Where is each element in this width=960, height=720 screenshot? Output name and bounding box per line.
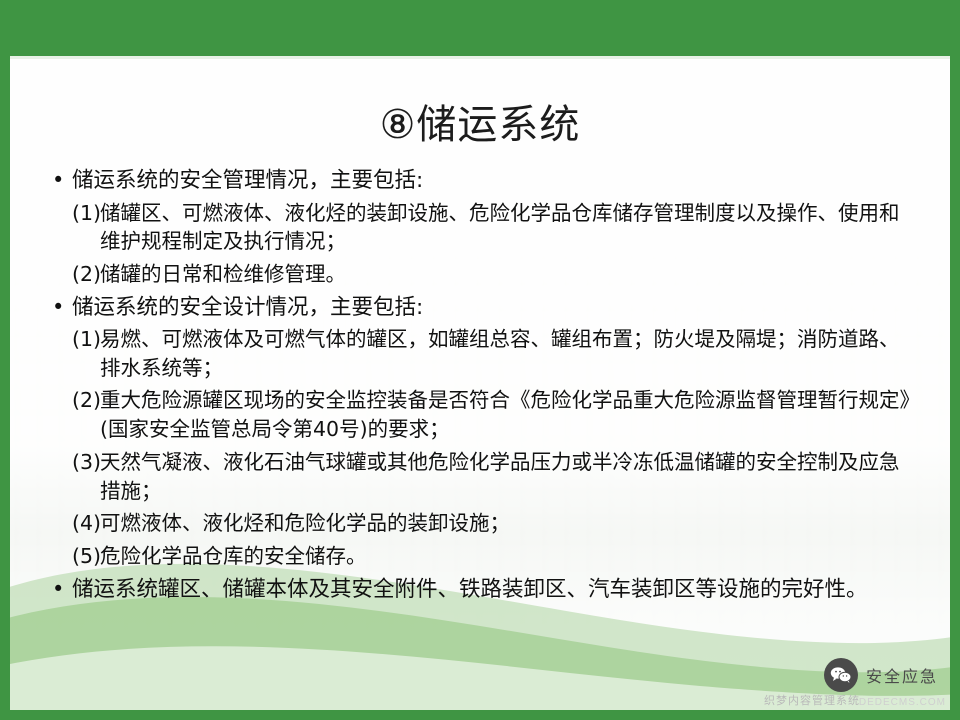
sub-bullet-number: (4)	[72, 509, 101, 538]
top-hairline	[0, 56, 960, 59]
bullet-text: 储运系统的安全设计情况，主要包括:	[72, 295, 423, 320]
sub-bullet-number: (3)	[72, 448, 101, 477]
slide-body: • 储运系统的安全管理情况，主要包括: (1) 储罐区、可燃液体、液化烃的装卸设…	[46, 166, 918, 607]
sub-bullet-text: 重大危险源罐区现场的安全监控装备是否符合《危险化学品重大危险源监督管理暂行规定》…	[100, 386, 918, 443]
sub-bullet-number: (1)	[72, 199, 101, 228]
wechat-icon	[824, 658, 858, 692]
bullet-glyph: •	[52, 293, 64, 323]
sub-bullet-text: 储罐的日常和检维修管理。	[100, 260, 918, 289]
sub-bullet-item: (2) 重大危险源罐区现场的安全监控装备是否符合《危险化学品重大危险源监督管理暂…	[72, 386, 918, 443]
bullet-item: • 储运系统罐区、储罐本体及其安全附件、铁路装卸区、汽车装卸区等设施的完好性。	[46, 575, 918, 606]
bullet-text: 储运系统罐区、储罐本体及其安全附件、铁路装卸区、汽车装卸区等设施的完好性。	[72, 577, 868, 602]
wechat-label: 安全应急	[866, 663, 938, 687]
slide-title: ⑧储运系统	[0, 92, 960, 150]
sub-bullet-number: (1)	[72, 325, 101, 354]
sub-bullet-text: 天然气凝液、液化石油气球罐或其他危险化学品压力或半冷冻低温储罐的安全控制及应急措…	[100, 448, 918, 505]
bottom-accent-edge	[0, 710, 960, 720]
sub-bullet-text: 储罐区、可燃液体、液化烃的装卸设施、危险化学品仓库储存管理制度以及操作、使用和维…	[100, 199, 918, 256]
sub-bullet-item: (3) 天然气凝液、液化石油气球罐或其他危险化学品压力或半冷冻低温储罐的安全控制…	[72, 448, 918, 505]
sub-bullet-number: (5)	[72, 542, 101, 571]
slide: ⑧储运系统 • 储运系统的安全管理情况，主要包括: (1) 储罐区、可燃液体、液…	[0, 0, 960, 720]
bullet-text: 储运系统的安全管理情况，主要包括:	[72, 168, 423, 193]
sub-bullet-item: (4) 可燃液体、液化烃和危险化学品的装卸设施；	[72, 509, 918, 538]
sub-bullet-item: (1) 易燃、可燃液体及可燃气体的罐区，如罐组总容、罐组布置；防火堤及隔堤；消防…	[72, 325, 918, 382]
sub-bullet-list: (1) 易燃、可燃液体及可燃气体的罐区，如罐组总容、罐组布置；防火堤及隔堤；消防…	[72, 325, 918, 571]
sub-bullet-number: (2)	[72, 386, 101, 415]
bullet-glyph: •	[52, 166, 64, 196]
sub-bullet-number: (2)	[72, 260, 101, 289]
sub-bullet-text: 危险化学品仓库的安全储存。	[100, 542, 918, 571]
top-accent-bar	[0, 0, 960, 56]
sub-bullet-item: (5) 危险化学品仓库的安全储存。	[72, 542, 918, 571]
wechat-badge: 安全应急	[824, 658, 938, 692]
bullet-list: • 储运系统的安全管理情况，主要包括: (1) 储罐区、可燃液体、液化烃的装卸设…	[46, 166, 918, 605]
sub-bullet-list: (1) 储罐区、可燃液体、液化烃的装卸设施、危险化学品仓库储存管理制度以及操作、…	[72, 199, 918, 289]
bullet-item: • 储运系统的安全设计情况，主要包括: (1) 易燃、可燃液体及可燃气体的罐区，…	[46, 293, 918, 571]
sub-bullet-item: (2) 储罐的日常和检维修管理。	[72, 260, 918, 289]
bullet-glyph: •	[52, 575, 64, 605]
bullet-item: • 储运系统的安全管理情况，主要包括: (1) 储罐区、可燃液体、液化烃的装卸设…	[46, 166, 918, 289]
sub-bullet-item: (1) 储罐区、可燃液体、液化烃的装卸设施、危险化学品仓库储存管理制度以及操作、…	[72, 199, 918, 256]
watermark-dedecms: DEDECMS.COM	[859, 697, 946, 708]
sub-bullet-text: 易燃、可燃液体及可燃气体的罐区，如罐组总容、罐组布置；防火堤及隔堤；消防道路、排…	[100, 325, 918, 382]
sub-bullet-text: 可燃液体、液化烃和危险化学品的装卸设施；	[100, 509, 918, 538]
watermark-chinese: 织梦内容管理系统	[764, 692, 860, 708]
